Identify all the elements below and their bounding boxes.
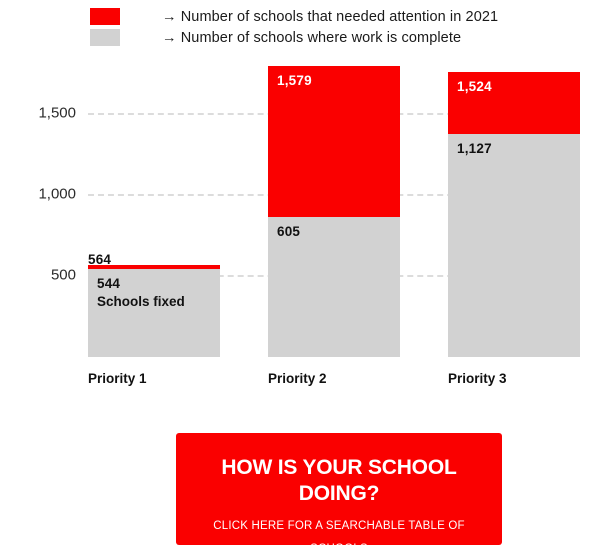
x-axis-label-priority-2: Priority 2 — [268, 371, 327, 386]
bar-priority-3: 1,524 1,127 — [448, 0, 580, 357]
cta-title: HOW IS YOUR SCHOOL DOING? — [176, 433, 502, 506]
y-axis-tick-1000: 1,000 — [0, 186, 76, 203]
x-axis-label-priority-1: Priority 1 — [88, 371, 147, 386]
bar-segment-red-priority-2: 1,579 — [268, 66, 400, 217]
bar-priority-2: 1,579 605 — [268, 0, 400, 357]
bar-segment-grey-priority-2: 605 — [268, 217, 400, 357]
how-is-your-school-doing-button[interactable]: HOW IS YOUR SCHOOL DOING? CLICK HERE FOR… — [176, 433, 502, 545]
bar-priority-1: 564 544 Schools fixed — [88, 0, 220, 357]
bar-segment-grey-priority-1: 544 Schools fixed — [88, 269, 220, 357]
bar-total-label-priority-2: 1,579 — [277, 73, 312, 88]
y-axis-tick-1500: 1,500 — [0, 105, 76, 122]
bar-annotation-schools-fixed: Schools fixed — [97, 294, 185, 309]
bar-segment-red-priority-3: 1,524 — [448, 72, 580, 134]
bar-total-label-priority-1: 564 — [88, 252, 111, 267]
bar-total-label-priority-3: 1,524 — [457, 79, 492, 94]
bar-completed-label-priority-2: 605 — [277, 224, 300, 239]
bar-completed-label-priority-1: 544 — [97, 276, 120, 291]
cta-subtitle: CLICK HERE FOR A SEARCHABLE TABLE OF SCH… — [176, 506, 502, 545]
bar-segment-grey-priority-3: 1,127 — [448, 134, 580, 357]
bar-completed-label-priority-3: 1,127 — [457, 141, 492, 156]
stacked-bar-chart: 1,500 1,000 500 564 544 Schools fixed Pr… — [0, 0, 615, 400]
x-axis-label-priority-3: Priority 3 — [448, 371, 507, 386]
y-axis-tick-500: 500 — [0, 267, 76, 284]
